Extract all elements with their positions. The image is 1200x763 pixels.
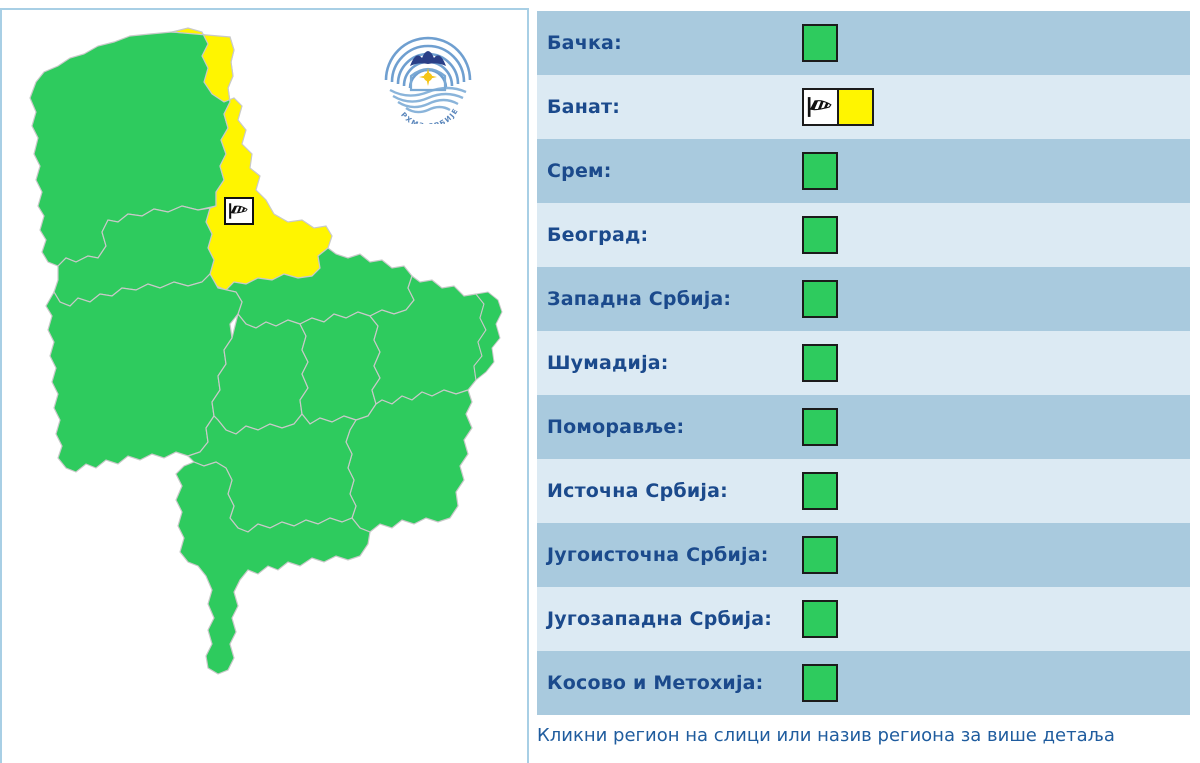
region-status-swatches	[802, 536, 838, 574]
region-status-swatches	[802, 280, 838, 318]
region-label[interactable]: Западна Србија:	[547, 288, 731, 310]
status-swatch-green[interactable]	[802, 344, 838, 382]
region-label[interactable]: Поморавље:	[547, 416, 684, 438]
region-row-jugozapadna-srbija[interactable]: Југозападна Србија:	[537, 587, 1190, 651]
region-status-swatches	[802, 408, 838, 446]
region-status-swatches	[802, 216, 838, 254]
region-label[interactable]: Косово и Метохија:	[547, 672, 763, 694]
region-row-pomoravlje[interactable]: Поморавље:	[537, 395, 1190, 459]
region-row-banat[interactable]: Банат:	[537, 75, 1190, 139]
status-swatch-green[interactable]	[802, 280, 838, 318]
map-windsock-marker[interactable]	[224, 197, 254, 225]
region-label[interactable]: Југоисточна Србија:	[547, 544, 769, 566]
region-label[interactable]: Београд:	[547, 224, 648, 246]
region-row-sumadija[interactable]: Шумадија:	[537, 331, 1190, 395]
region-status-swatches	[802, 88, 874, 126]
region-row-zapadna-srbija[interactable]: Западна Србија:	[537, 267, 1190, 331]
region-row-kosovo-i-metohija[interactable]: Косово и Метохија:	[537, 651, 1190, 715]
region-label[interactable]: Источна Србија:	[547, 480, 728, 502]
map-region-pomoravlje[interactable]	[300, 312, 380, 424]
region-row-srem[interactable]: Срем:	[537, 139, 1190, 203]
region-status-swatches	[802, 472, 838, 510]
region-status-list: Бачка: Банат:	[537, 11, 1190, 715]
warnings-page: РХМЗ СРБИЈЕ	[0, 0, 1200, 763]
status-swatch-green[interactable]	[802, 472, 838, 510]
region-row-backa[interactable]: Бачка:	[537, 11, 1190, 75]
region-row-jugoistocna-srbija[interactable]: Југоисточна Србија:	[537, 523, 1190, 587]
rhmz-logo: РХМЗ СРБИЈЕ	[380, 32, 476, 124]
footer-hint: Кликни регион на слици или назив региона…	[537, 725, 1190, 746]
region-status-swatches	[802, 24, 838, 62]
status-swatch-yellow[interactable]	[838, 88, 874, 126]
region-label[interactable]: Југозападна Србија:	[547, 608, 772, 630]
status-swatch-green[interactable]	[802, 536, 838, 574]
region-label[interactable]: Бачка:	[547, 32, 622, 54]
windsock-icon[interactable]	[802, 88, 838, 126]
region-status-swatches	[802, 664, 838, 702]
windsock-icon	[226, 199, 252, 223]
map-panel: РХМЗ СРБИЈЕ	[0, 8, 529, 763]
rhmz-logo-icon: РХМЗ СРБИЈЕ	[380, 32, 476, 124]
status-swatch-green[interactable]	[802, 408, 838, 446]
warning-pair	[802, 88, 874, 126]
region-status-swatches	[802, 600, 838, 638]
status-swatch-green[interactable]	[802, 152, 838, 190]
region-status-swatches	[802, 152, 838, 190]
region-row-istocna-srbija[interactable]: Источна Србија:	[537, 459, 1190, 523]
status-swatch-green[interactable]	[802, 216, 838, 254]
region-label[interactable]: Срем:	[547, 160, 612, 182]
region-status-swatches	[802, 344, 838, 382]
status-swatch-green[interactable]	[802, 600, 838, 638]
region-label[interactable]: Банат:	[547, 96, 620, 118]
status-swatch-green[interactable]	[802, 664, 838, 702]
region-row-beograd[interactable]: Београд:	[537, 203, 1190, 267]
region-label[interactable]: Шумадија:	[547, 352, 669, 374]
status-swatch-green[interactable]	[802, 24, 838, 62]
